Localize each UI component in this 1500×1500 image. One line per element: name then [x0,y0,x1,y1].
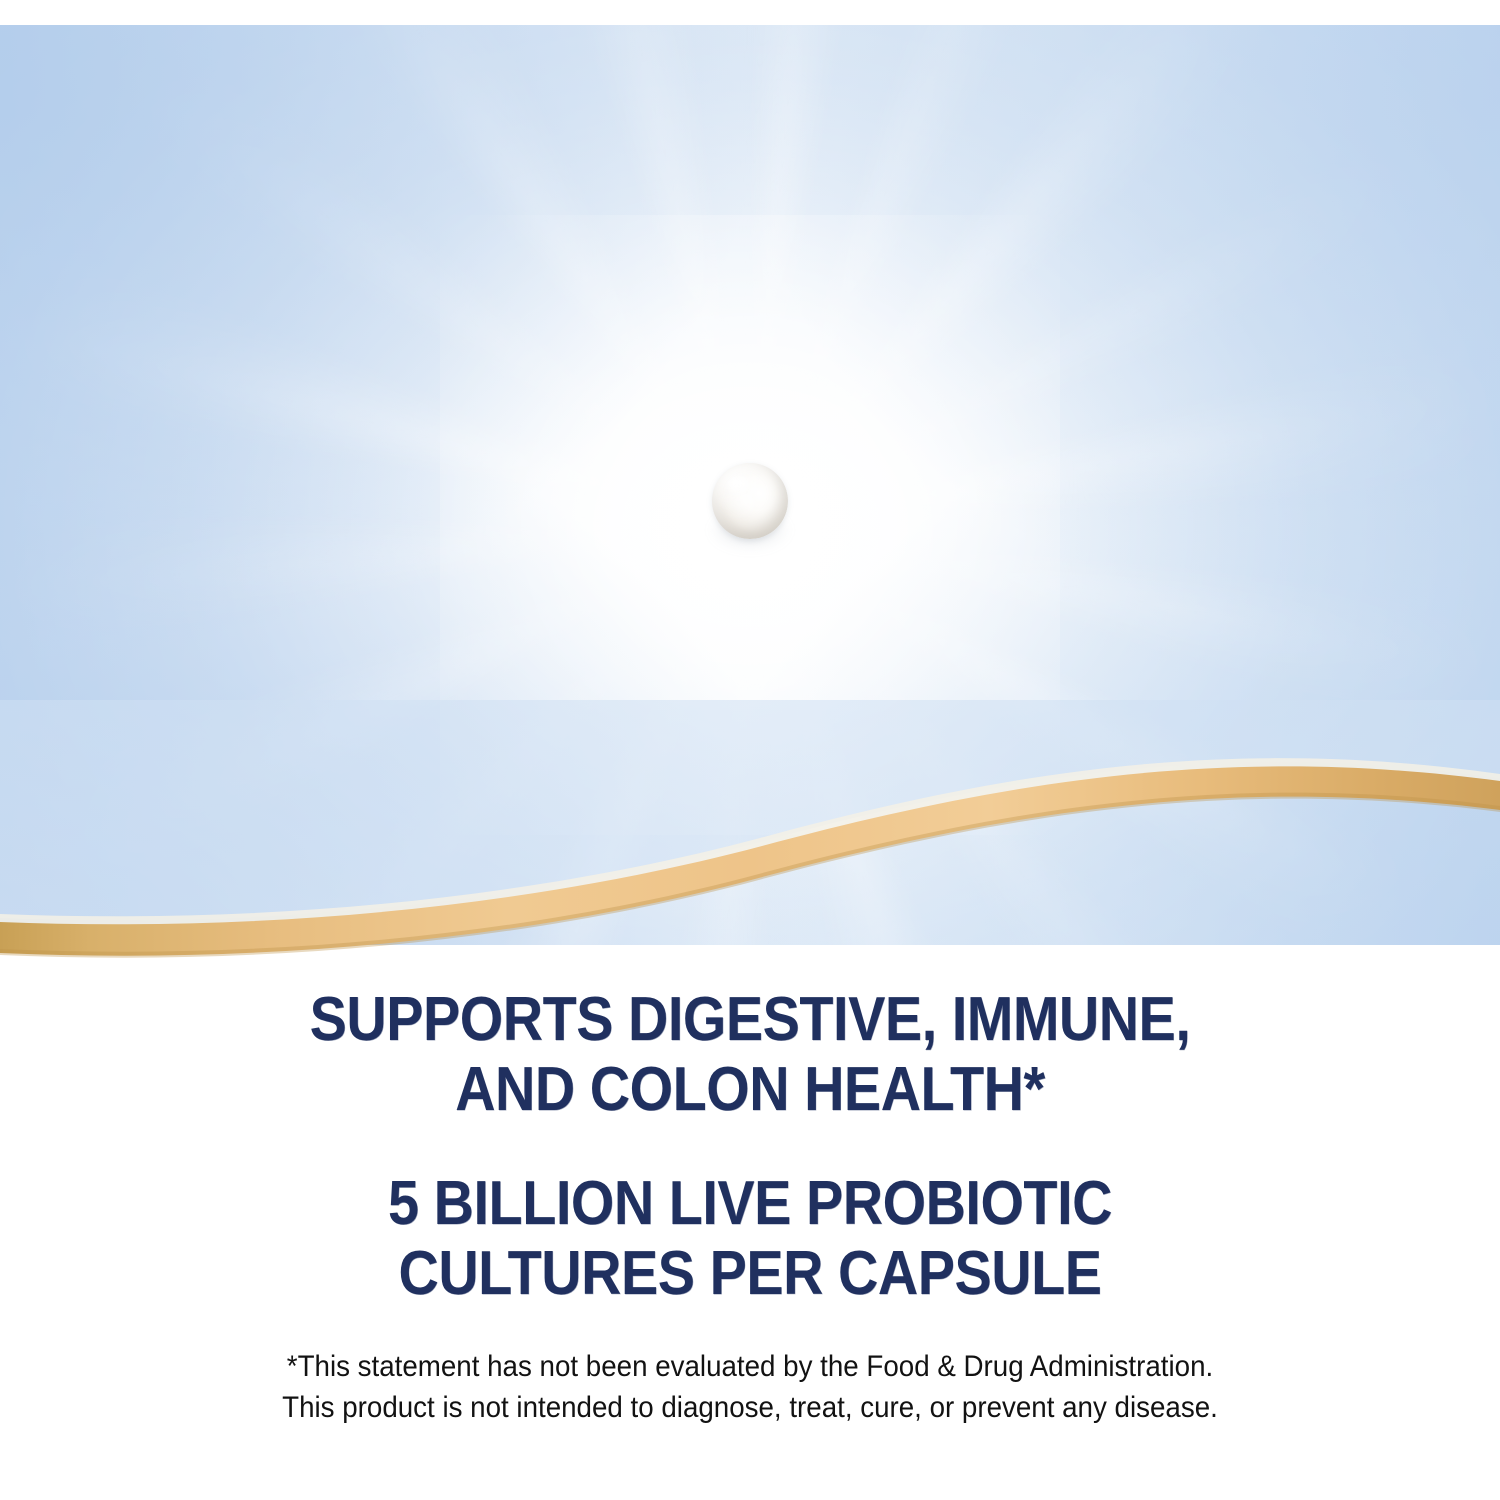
primary-headline: SUPPORTS DIGESTIVE, IMMUNE, AND COLON HE… [75,985,1425,1125]
secondary-headline-line-2: CULTURES PER CAPSULE [75,1239,1425,1309]
pearl-lustre-band [717,484,757,519]
primary-headline-line-2: AND COLON HEALTH* [75,1055,1425,1125]
product-marketing-panel: SUPPORTS DIGESTIVE, IMMUNE, AND COLON HE… [0,0,1500,1500]
pearl-sphere [712,463,788,539]
top-white-strip [0,0,1500,25]
gold-wave-divider [0,700,1500,990]
copy-block: SUPPORTS DIGESTIVE, IMMUNE, AND COLON HE… [0,985,1500,1429]
probiotic-capsule-pearl-image [712,463,788,539]
primary-headline-line-1: SUPPORTS DIGESTIVE, IMMUNE, [75,985,1425,1055]
secondary-headline-line-1: 5 BILLION LIVE PROBIOTIC [75,1169,1425,1239]
secondary-headline: 5 BILLION LIVE PROBIOTIC CULTURES PER CA… [75,1169,1425,1309]
fda-disclaimer-line-1: *This statement has not been evaluated b… [45,1347,1455,1388]
fda-disclaimer: *This statement has not been evaluated b… [45,1347,1455,1428]
fda-disclaimer-line-2: This product is not intended to diagnose… [45,1388,1455,1429]
